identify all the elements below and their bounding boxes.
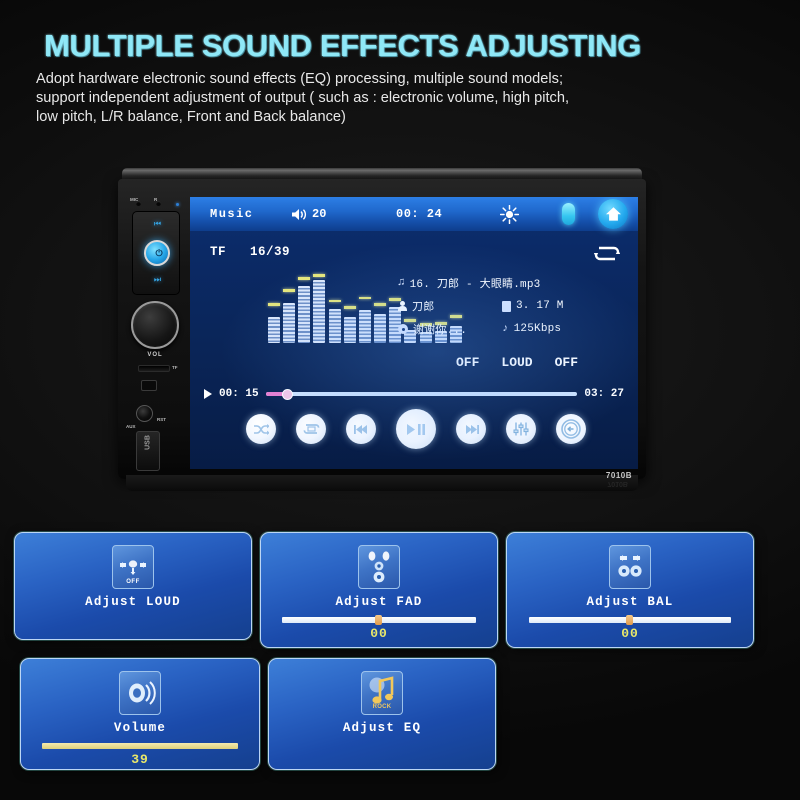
status-flag-0[interactable]: OFF: [456, 355, 479, 370]
elapsed-time: 00: 15: [219, 388, 259, 400]
status-led: [176, 203, 179, 206]
spectrum-bar-peak: [329, 300, 341, 303]
album-icon: [398, 324, 408, 334]
lcd-screen: Music 20 00: 24: [190, 197, 638, 469]
unit-body: MIC R ⏮ ⏻ ⏭ VOL TF AUX: [118, 179, 646, 479]
next-track-key[interactable]: ⏭: [133, 275, 181, 285]
repeat-button[interactable]: [296, 414, 326, 444]
panel-slider[interactable]: [529, 617, 731, 623]
loudness-off-icon: OFF: [112, 545, 154, 589]
spectrum-bar: [359, 277, 369, 343]
spectrum-bar-fill: [344, 317, 356, 343]
total-time: 03: 27: [584, 388, 624, 400]
model-number-reflection: 7010B: [607, 480, 628, 487]
bitrate-icon: ♪: [502, 323, 509, 335]
panel-slider-thumb[interactable]: [626, 615, 633, 625]
model-number: 7010B: [606, 471, 632, 480]
tf-card-slot[interactable]: [138, 365, 170, 372]
track-album-row: 谢谢你... ♪125Kbps: [398, 321, 628, 337]
panel-slider[interactable]: [42, 743, 237, 749]
brightness-icon[interactable]: [500, 205, 519, 229]
panel-adjust-loud[interactable]: OFFAdjust LOUD: [14, 532, 252, 640]
speaker-icon: [119, 671, 161, 715]
spectrum-bar: [268, 277, 278, 343]
aux-jack[interactable]: [136, 405, 153, 422]
status-bar: Music 20 00: 24: [190, 197, 638, 231]
play-pause-button[interactable]: [396, 409, 436, 449]
description-line-1: Adopt hardware electronic sound effects …: [36, 70, 736, 89]
track-info: ♫ 16. 刀郎 - 大眼睛.mp3 刀郎 3. 17 M 谢谢你... ♪12…: [398, 275, 628, 344]
panel-volume[interactable]: Volume39: [20, 658, 260, 770]
panel-slider-thumb[interactable]: [375, 615, 382, 625]
spectrum-bar-fill: [298, 286, 310, 343]
spectrum-bar-peak: [268, 303, 280, 306]
device-control-column: MIC R ⏮ ⏻ ⏭ VOL TF AUX: [124, 193, 186, 479]
mic-reset-row: MIC R: [130, 197, 182, 209]
filesize-icon: [502, 301, 511, 312]
track-artist: 刀郎: [412, 298, 434, 314]
spectrum-bar: [283, 277, 293, 343]
spectrum-bar-peak: [313, 274, 325, 277]
panel-value: 00: [261, 626, 497, 641]
transport-key-pad: ⏮ ⏻ ⏭: [132, 211, 180, 295]
spectrum-bar: [374, 277, 384, 343]
spectrum-bar: [313, 277, 323, 343]
media-source-label: TF: [210, 245, 226, 259]
spectrum-bar-fill: [268, 317, 280, 343]
spectrum-bar-peak: [374, 303, 386, 306]
prev-track-key[interactable]: ⏮: [133, 219, 181, 229]
power-mode-button[interactable]: ⏻: [144, 240, 170, 266]
media-source-and-index: TF 16/39: [210, 245, 290, 259]
spectrum-bar-fill: [313, 280, 325, 343]
reset-label: R: [154, 197, 157, 202]
page-title: MULTIPLE SOUND EFFECTS ADJUSTING: [44, 28, 764, 64]
status-flag-1[interactable]: LOUD: [501, 355, 532, 370]
usb-label: USB: [145, 431, 152, 455]
spectrum-bar-fill: [329, 309, 341, 343]
music-note-icon: ♫: [398, 277, 405, 289]
panel-value: 39: [21, 752, 259, 767]
eq-note-icon: ROCK: [361, 671, 403, 715]
spectrum-bar: [298, 277, 308, 343]
option-panels: OFFAdjust LOUDAdjust FAD00Adjust BAL00Vo…: [0, 528, 800, 798]
mic-label: MIC: [130, 197, 138, 202]
track-title-row: ♫ 16. 刀郎 - 大眼睛.mp3: [398, 275, 628, 291]
panel-slider[interactable]: [282, 617, 476, 623]
repeat-icon[interactable]: [594, 245, 620, 267]
volume-icon: [292, 208, 307, 221]
transport-controls: [246, 409, 586, 449]
spectrum-bar-fill: [283, 303, 295, 343]
balance-icon: [609, 545, 651, 589]
secondary-card-slot[interactable]: [141, 380, 157, 391]
spectrum-bar-peak: [283, 289, 295, 292]
tf-slot-label: TF: [172, 365, 178, 370]
car-stereo-unit: MIC R ⏮ ⏻ ⏭ VOL TF AUX: [118, 168, 646, 486]
artist-icon: [398, 301, 407, 311]
unit-bottom-trim: [126, 475, 638, 491]
status-flag-2[interactable]: OFF: [555, 355, 578, 370]
progress-slider[interactable]: [266, 392, 578, 396]
panel-adjust-fad[interactable]: Adjust FAD00: [260, 532, 498, 648]
panel-icon-badge: OFF: [113, 579, 153, 585]
panel-label: Adjust LOUD: [15, 595, 251, 609]
track-bitrate: 125Kbps: [514, 323, 562, 335]
status-flag-row: OFF LOUD OFF: [456, 355, 636, 370]
playing-indicator-icon: [204, 389, 212, 399]
volume-knob[interactable]: [131, 301, 179, 349]
clock-label: 00: 24: [396, 207, 442, 221]
shuffle-button[interactable]: [246, 414, 276, 444]
volume-value: 20: [312, 207, 326, 221]
spectrum-bar-peak: [359, 297, 371, 300]
back-button[interactable]: [556, 414, 586, 444]
spectrum-bar-fill: [374, 314, 386, 343]
next-button[interactable]: [456, 414, 486, 444]
panel-value: 00: [507, 626, 753, 641]
home-icon[interactable]: [598, 199, 628, 229]
panel-adjust-eq[interactable]: ROCKAdjust EQ: [268, 658, 496, 770]
pill-icon[interactable]: [562, 203, 575, 225]
spectrum-bar: [344, 277, 354, 343]
panel-icon-badge: ROCK: [362, 704, 402, 710]
track-index-label: 16/39: [250, 245, 290, 259]
fader-icon: [358, 545, 400, 589]
track-artist-row: 刀郎 3. 17 M: [398, 298, 628, 314]
rst-label: RST: [157, 417, 166, 422]
panel-adjust-bal[interactable]: Adjust BAL00: [506, 532, 754, 648]
description-line-2: support independent adjustment of output…: [36, 89, 736, 108]
track-title: 16. 刀郎 - 大眼睛.mp3: [410, 275, 541, 291]
panel-label: Adjust BAL: [507, 595, 753, 609]
equalizer-button[interactable]: [506, 414, 536, 444]
page-description: Adopt hardware electronic sound effects …: [36, 70, 736, 127]
source-label: Music: [210, 207, 254, 221]
volume-indicator[interactable]: 20: [292, 207, 326, 221]
aux-label: AUX: [126, 424, 136, 429]
spectrum-bar: [329, 277, 339, 343]
spectrum-bar-peak: [344, 306, 356, 309]
progress-thumb[interactable]: [282, 389, 293, 400]
progress-bar-row: 00: 15 03: 27: [204, 387, 624, 401]
page-root: MULTIPLE SOUND EFFECTS ADJUSTING Adopt h…: [0, 0, 800, 800]
track-album: 谢谢你...: [413, 321, 467, 337]
spectrum-bar-peak: [298, 277, 310, 280]
power-icon: ⏻: [146, 248, 172, 259]
volume-knob-label: VOL: [124, 352, 186, 358]
panel-label: Volume: [21, 721, 259, 735]
spectrum-bar-fill: [359, 310, 371, 343]
panel-label: Adjust EQ: [269, 721, 495, 735]
previous-button[interactable]: [346, 414, 376, 444]
description-line-3: low pitch, L/R balance, Front and Back b…: [36, 108, 736, 127]
track-size: 3. 17 M: [516, 300, 564, 312]
panel-label: Adjust FAD: [261, 595, 497, 609]
